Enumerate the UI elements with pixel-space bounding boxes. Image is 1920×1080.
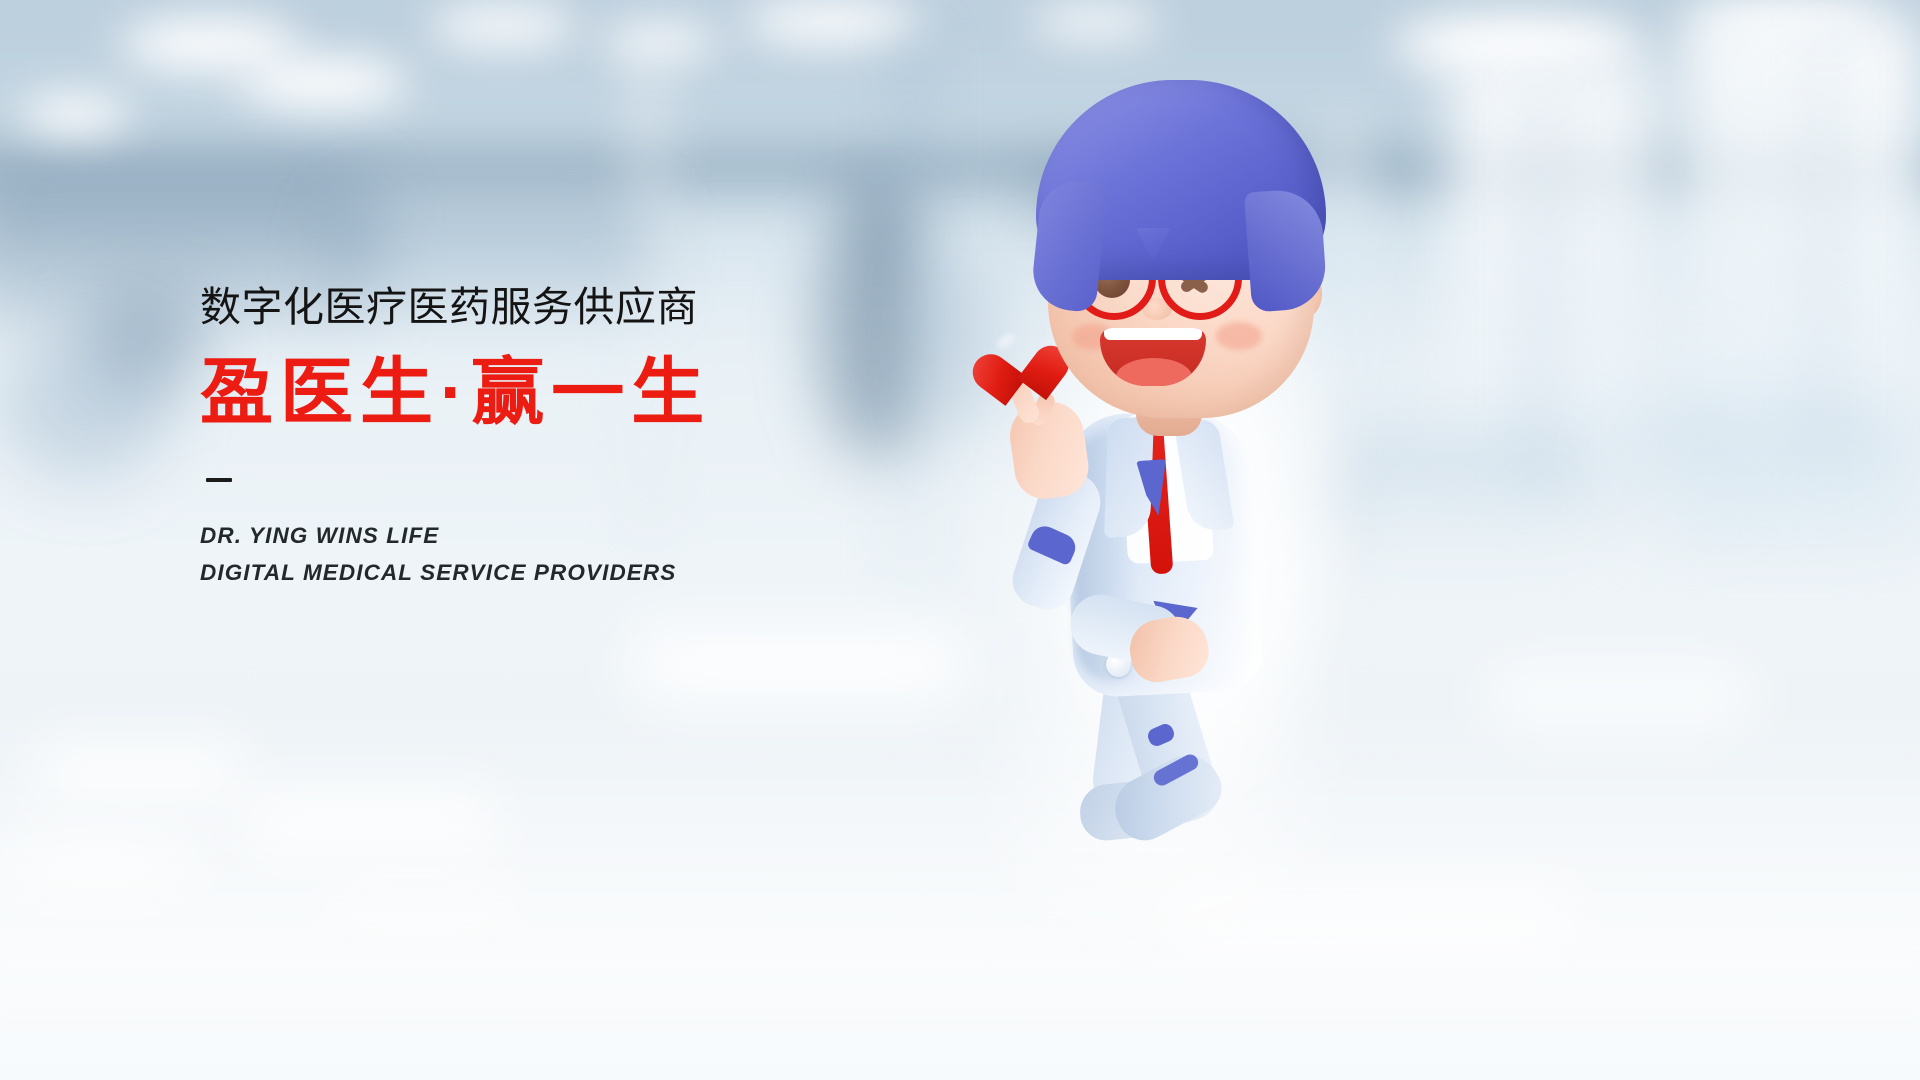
floor-reflection — [240, 790, 500, 850]
hero-english-line-1: DR. YING WINS LIFE — [200, 518, 960, 554]
tongue — [1116, 358, 1192, 386]
floor-reflection — [0, 836, 200, 892]
teeth — [1104, 328, 1202, 340]
ceiling-light — [1030, 6, 1160, 38]
floor-reflection — [1480, 660, 1760, 730]
blurred-desk — [1620, 400, 1920, 550]
ceiling-light — [742, 0, 922, 44]
hero-english: DR. YING WINS LIFE DIGITAL MEDICAL SERVI… — [200, 518, 960, 591]
hero-banner: 数字化医疗医药服务供应商 盈医生·赢一生 DR. YING WINS LIFE … — [0, 0, 1920, 1080]
hero-headline: 盈医生·赢一生 — [200, 350, 960, 436]
smiling-mouth-icon — [1100, 328, 1206, 386]
doctor-mascot-illustration — [960, 40, 1380, 870]
wall-panel — [1450, 60, 1660, 480]
floor-reflection — [620, 620, 980, 710]
heart-icon — [984, 322, 1053, 388]
ceiling-light — [600, 24, 720, 58]
ceiling-light — [20, 96, 130, 136]
blurred-equipment — [0, 330, 170, 480]
hero-english-line-2: DIGITAL MEDICAL SERVICE PROVIDERS — [200, 555, 960, 591]
hero-divider — [206, 478, 232, 482]
blurred-person — [852, 186, 904, 244]
floor-reflection — [320, 880, 520, 930]
hero-copy: 数字化医疗医药服务供应商 盈医生·赢一生 DR. YING WINS LIFE … — [200, 282, 960, 591]
ceiling-light — [428, 6, 578, 46]
cheek-right — [1216, 322, 1262, 350]
heart-highlight — [995, 331, 1018, 352]
floor-reflection — [30, 742, 250, 798]
ceiling-light — [238, 58, 408, 108]
hero-kicker: 数字化医疗医药服务供应商 — [200, 282, 960, 332]
